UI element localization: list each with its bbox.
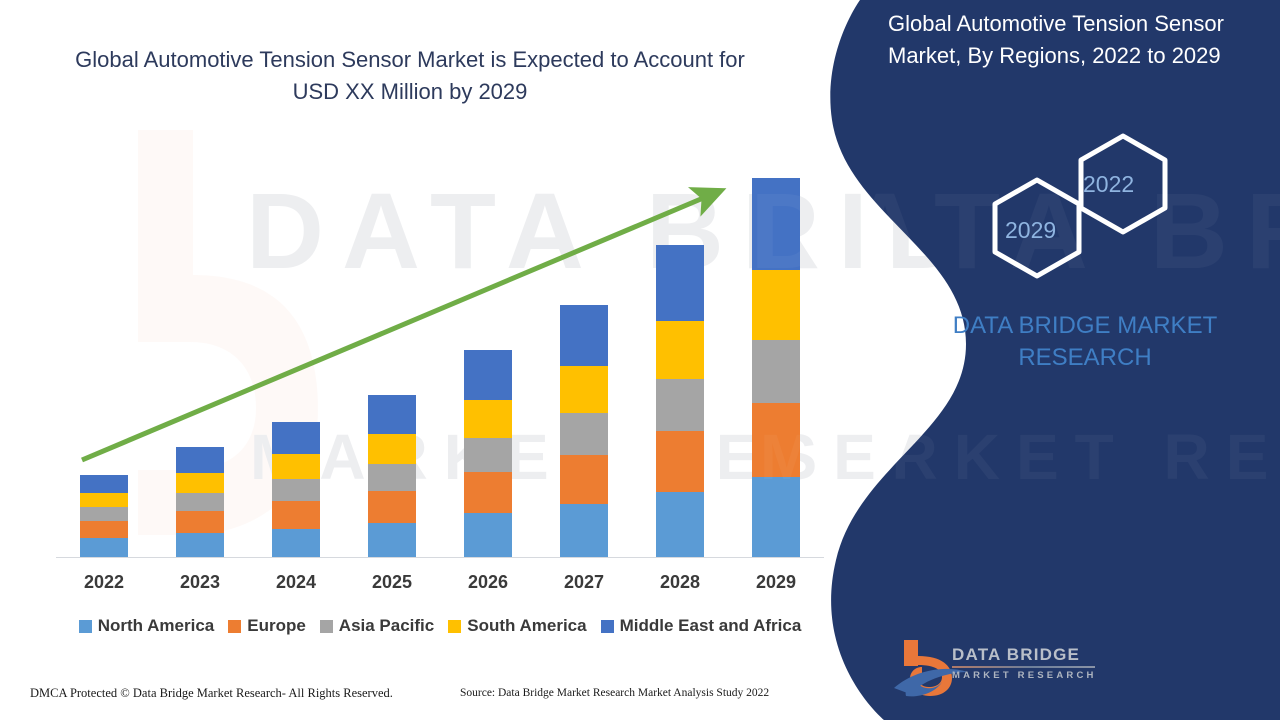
chart-pane: DATA BRIDGE MARKET RESEARCH Global Autom… [0,0,880,720]
logo-divider [952,666,1095,668]
bar-column-2023[interactable] [152,170,248,557]
bar-segment[interactable] [368,523,416,557]
right-panel-content: DATA BRIDGE MARKET RESEARCH Global Autom… [880,0,1280,720]
bar-segment[interactable] [176,473,224,493]
stacked-bar[interactable] [80,475,128,557]
legend-swatch-icon [79,620,92,633]
legend-item-north-america[interactable]: North America [79,616,215,636]
hexagon-badges: 2022 2029 [975,128,1195,288]
legend-swatch-icon [320,620,333,633]
bar-segment[interactable] [272,529,320,557]
x-axis-label-2028: 2028 [632,572,728,593]
bar-chart-plot [56,170,824,557]
bar-segment[interactable] [560,366,608,412]
bar-column-2024[interactable] [248,170,344,557]
x-axis-label-2026: 2026 [440,572,536,593]
bar-segment[interactable] [368,464,416,490]
stacked-bar[interactable] [752,178,800,557]
bar-segment[interactable] [80,507,128,521]
bar-segment[interactable] [464,400,512,438]
bar-segment[interactable] [752,178,800,271]
stacked-bar[interactable] [272,422,320,557]
legend-label: North America [98,616,215,636]
bar-segment[interactable] [176,493,224,511]
x-axis-label-2027: 2027 [536,572,632,593]
bar-segment[interactable] [752,403,800,477]
footer-copyright: DMCA Protected © Data Bridge Market Rese… [30,686,393,701]
bar-segment[interactable] [80,521,128,538]
bar-segment[interactable] [560,305,608,366]
bar-segment[interactable] [272,479,320,501]
bar-segment[interactable] [80,538,128,557]
legend-label: Asia Pacific [339,616,434,636]
stacked-bar[interactable] [368,395,416,557]
legend-swatch-icon [228,620,241,633]
bar-segment[interactable] [80,475,128,493]
x-axis-line [56,557,824,558]
legend-item-asia-pacific[interactable]: Asia Pacific [320,616,434,636]
bar-column-2029[interactable] [728,170,824,557]
logo-wordmark: DATA BRIDGE MARKET RESEARCH [952,645,1112,682]
bar-segment[interactable] [176,447,224,472]
footer-source: Source: Data Bridge Market Research Mark… [460,687,769,699]
bar-segment[interactable] [560,504,608,557]
x-axis-label-2022: 2022 [56,572,152,593]
bar-segment[interactable] [464,350,512,400]
stacked-bar[interactable] [464,350,512,557]
stacked-bar[interactable] [176,447,224,557]
bar-column-2027[interactable] [536,170,632,557]
bar-segment[interactable] [752,477,800,557]
legend-item-middle-east-and-africa[interactable]: Middle East and Africa [601,616,802,636]
hexagon-outline-icons [975,128,1195,288]
bar-segment[interactable] [656,245,704,321]
bar-segment[interactable] [656,379,704,431]
legend-item-south-america[interactable]: South America [448,616,586,636]
bar-segment[interactable] [368,395,416,434]
x-axis-label-2025: 2025 [344,572,440,593]
bar-segment[interactable] [368,434,416,465]
bar-segment[interactable] [464,438,512,472]
bar-column-2028[interactable] [632,170,728,557]
bar-column-2026[interactable] [440,170,536,557]
x-axis-label-2024: 2024 [248,572,344,593]
bar-segment[interactable] [752,270,800,340]
hexagon-label-2022: 2022 [1083,171,1134,198]
bar-segment[interactable] [560,455,608,505]
legend-label: Europe [247,616,306,636]
hexagon-label-2029: 2029 [1005,217,1056,244]
bar-segment[interactable] [464,472,512,513]
bar-segment[interactable] [176,533,224,557]
legend-label: Middle East and Africa [620,616,802,636]
chart-legend: North AmericaEuropeAsia PacificSouth Ame… [50,616,830,636]
stacked-bar[interactable] [656,245,704,557]
x-axis-labels: 20222023202420252026202720282029 [56,572,824,593]
legend-swatch-icon [448,620,461,633]
legend-item-europe[interactable]: Europe [228,616,306,636]
bar-segment[interactable] [656,321,704,379]
bar-segment[interactable] [464,513,512,557]
bar-segment[interactable] [176,511,224,533]
x-axis-label-2023: 2023 [152,572,248,593]
bar-column-2022[interactable] [56,170,152,557]
bar-segment[interactable] [752,340,800,403]
bar-segment[interactable] [656,431,704,492]
stacked-bar[interactable] [560,305,608,557]
bar-segment[interactable] [656,492,704,557]
bar-segment[interactable] [272,422,320,454]
legend-label: South America [467,616,586,636]
slide-root: DATA BRIDGE MARKET RESEARCH Global Autom… [0,0,1280,720]
legend-swatch-icon [601,620,614,633]
chart-title: Global Automotive Tension Sensor Market … [60,44,760,108]
bar-segment[interactable] [272,454,320,479]
bar-segment[interactable] [272,501,320,528]
logo-line-2: MARKET RESEARCH [952,670,1112,682]
panel-title: Global Automotive Tension Sensor Market,… [888,8,1278,72]
bar-segment[interactable] [80,493,128,508]
bar-segment[interactable] [560,413,608,455]
logo-line-1: DATA BRIDGE [952,645,1112,665]
brand-name: DATA BRIDGE MARKET RESEARCH [920,310,1250,374]
bar-column-2025[interactable] [344,170,440,557]
x-axis-label-2029: 2029 [728,572,824,593]
bar-segment[interactable] [368,491,416,524]
